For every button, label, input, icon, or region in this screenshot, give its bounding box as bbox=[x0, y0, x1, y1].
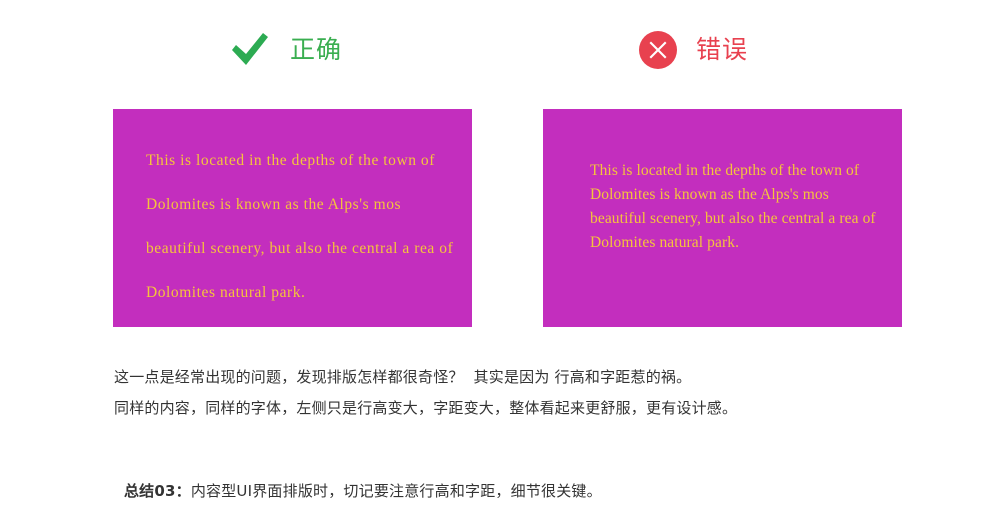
status-group-wrong: 错误 bbox=[638, 22, 748, 78]
status-label-correct: 正确 bbox=[290, 37, 342, 64]
example-card-tight-spacing: This is located in the depths of the tow… bbox=[543, 109, 902, 327]
status-header-row: 正确 错误 bbox=[0, 22, 1000, 78]
cross-circle-icon bbox=[638, 30, 678, 70]
example-card-loose-text: This is located in the depths of the tow… bbox=[146, 139, 456, 315]
example-card-tight-text: This is located in the depths of the tow… bbox=[590, 159, 880, 255]
example-card-loose-spacing: This is located in the depths of the tow… bbox=[113, 109, 472, 327]
status-group-correct: 正确 bbox=[228, 22, 342, 78]
explanation-line-1: 这一点是经常出现的问题，发现排版怎样都很奇怪？ 其实是因为 行高和字距惹的祸。 bbox=[114, 362, 934, 393]
explanation-line-2: 同样的内容，同样的字体，左侧只是行高变大，字距变大，整体看起来更舒服，更有设计感… bbox=[114, 393, 934, 424]
status-label-wrong: 错误 bbox=[696, 37, 748, 64]
summary-text: 内容型UI界面排版时，切记要注意行高和字距，细节很关键。 bbox=[191, 482, 602, 500]
summary-paragraph: 总结03：内容型UI界面排版时，切记要注意行高和字距，细节很关键。 bbox=[114, 452, 602, 504]
check-mark-icon bbox=[228, 28, 272, 72]
explanation-paragraph: 这一点是经常出现的问题，发现排版怎样都很奇怪？ 其实是因为 行高和字距惹的祸。 … bbox=[114, 362, 934, 424]
summary-prefix-label: 总结03： bbox=[124, 482, 191, 500]
